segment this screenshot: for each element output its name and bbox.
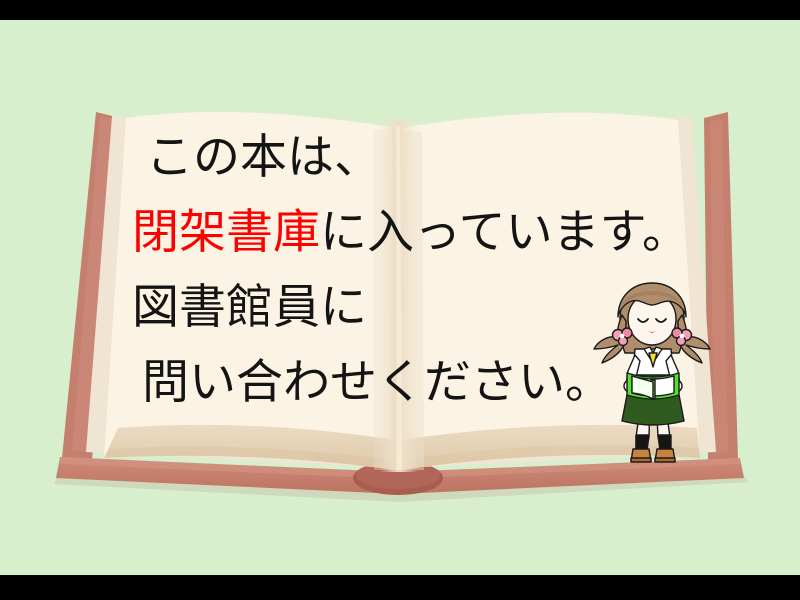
held-book: [627, 373, 679, 399]
librarian-girl-illustration: [592, 275, 712, 475]
scene-background: この本は、 閉架書庫に入っています。 図書館員に 問い合わせください。: [0, 20, 800, 575]
letterbox-bar-top: [0, 0, 800, 20]
shoe-right-sole: [655, 458, 675, 462]
letterbox-bar-bottom: [0, 575, 800, 600]
shoe-left-sole: [631, 458, 651, 462]
screenshot-canvas: この本は、 閉架書庫に入っています。 図書館員に 問い合わせください。: [0, 0, 800, 600]
book-page-left: [104, 112, 396, 470]
gutter-shadow-left: [374, 128, 394, 470]
gutter-shadow-right: [402, 130, 424, 470]
